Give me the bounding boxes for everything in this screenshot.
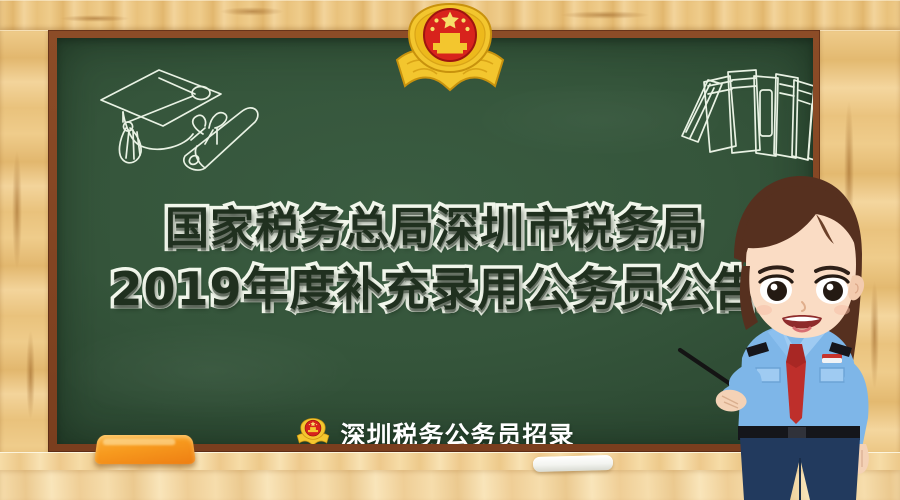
chalk-stick-icon <box>533 455 613 472</box>
graduation-cap-icon <box>93 56 273 176</box>
frame-plank-left <box>0 30 48 470</box>
tax-officer-character <box>676 172 900 500</box>
blackboard-eraser-icon <box>94 435 196 464</box>
poster-root: 国家税务总局深圳市税务局 2019年度补充录用公务员公告 深圳税务公务员招录 <box>0 0 900 500</box>
books-icon <box>672 60 813 175</box>
tax-emblem-small-icon <box>295 417 331 444</box>
tax-emblem-main-icon <box>393 2 507 106</box>
footer-text: 深圳税务公务员招录 <box>340 416 574 444</box>
